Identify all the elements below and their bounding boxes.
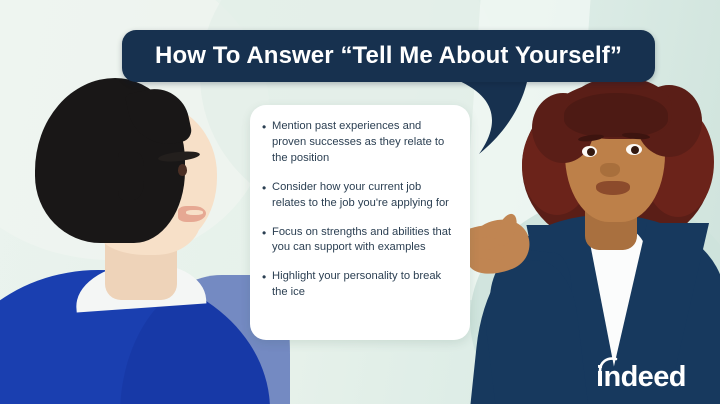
list-item-text: Highlight your personality to break the …: [272, 269, 456, 301]
woman-pupil-right: [631, 146, 639, 154]
man-nose: [190, 170, 216, 196]
illustration-man: [0, 70, 270, 404]
list-item: • Mention past experiences and proven su…: [262, 119, 456, 167]
woman-nose: [600, 163, 620, 177]
woman-pupil-left: [587, 148, 595, 156]
woman-hair-fringe: [564, 93, 668, 137]
list-item-text: Mention past experiences and proven succ…: [272, 119, 456, 167]
tips-list: • Mention past experiences and proven su…: [262, 119, 456, 301]
indeed-logo: indeed: [596, 356, 704, 392]
tips-card: • Mention past experiences and proven su…: [250, 105, 470, 340]
list-item: • Consider how your current job relates …: [262, 180, 456, 212]
man-eye: [178, 164, 187, 176]
page-title: How To Answer “Tell Me About Yourself”: [155, 42, 622, 70]
bullet-icon: •: [262, 119, 272, 167]
list-item: • Highlight your personality to break th…: [262, 269, 456, 301]
bullet-icon: •: [262, 269, 272, 301]
list-item-text: Focus on strengths and abilities that yo…: [272, 225, 456, 257]
man-mouth-opening: [186, 210, 203, 215]
speech-bubble-tail-icon: [455, 72, 565, 162]
bullet-icon: •: [262, 225, 272, 257]
indeed-arc-icon: [597, 356, 623, 372]
bullet-icon: •: [262, 180, 272, 212]
infographic-canvas: How To Answer “Tell Me About Yourself” •…: [0, 0, 720, 404]
title-banner: How To Answer “Tell Me About Yourself”: [122, 30, 655, 82]
woman-mouth: [596, 181, 630, 195]
list-item: • Focus on strengths and abilities that …: [262, 225, 456, 257]
man-sideburn: [118, 152, 144, 200]
list-item-text: Consider how your current job relates to…: [272, 180, 456, 212]
